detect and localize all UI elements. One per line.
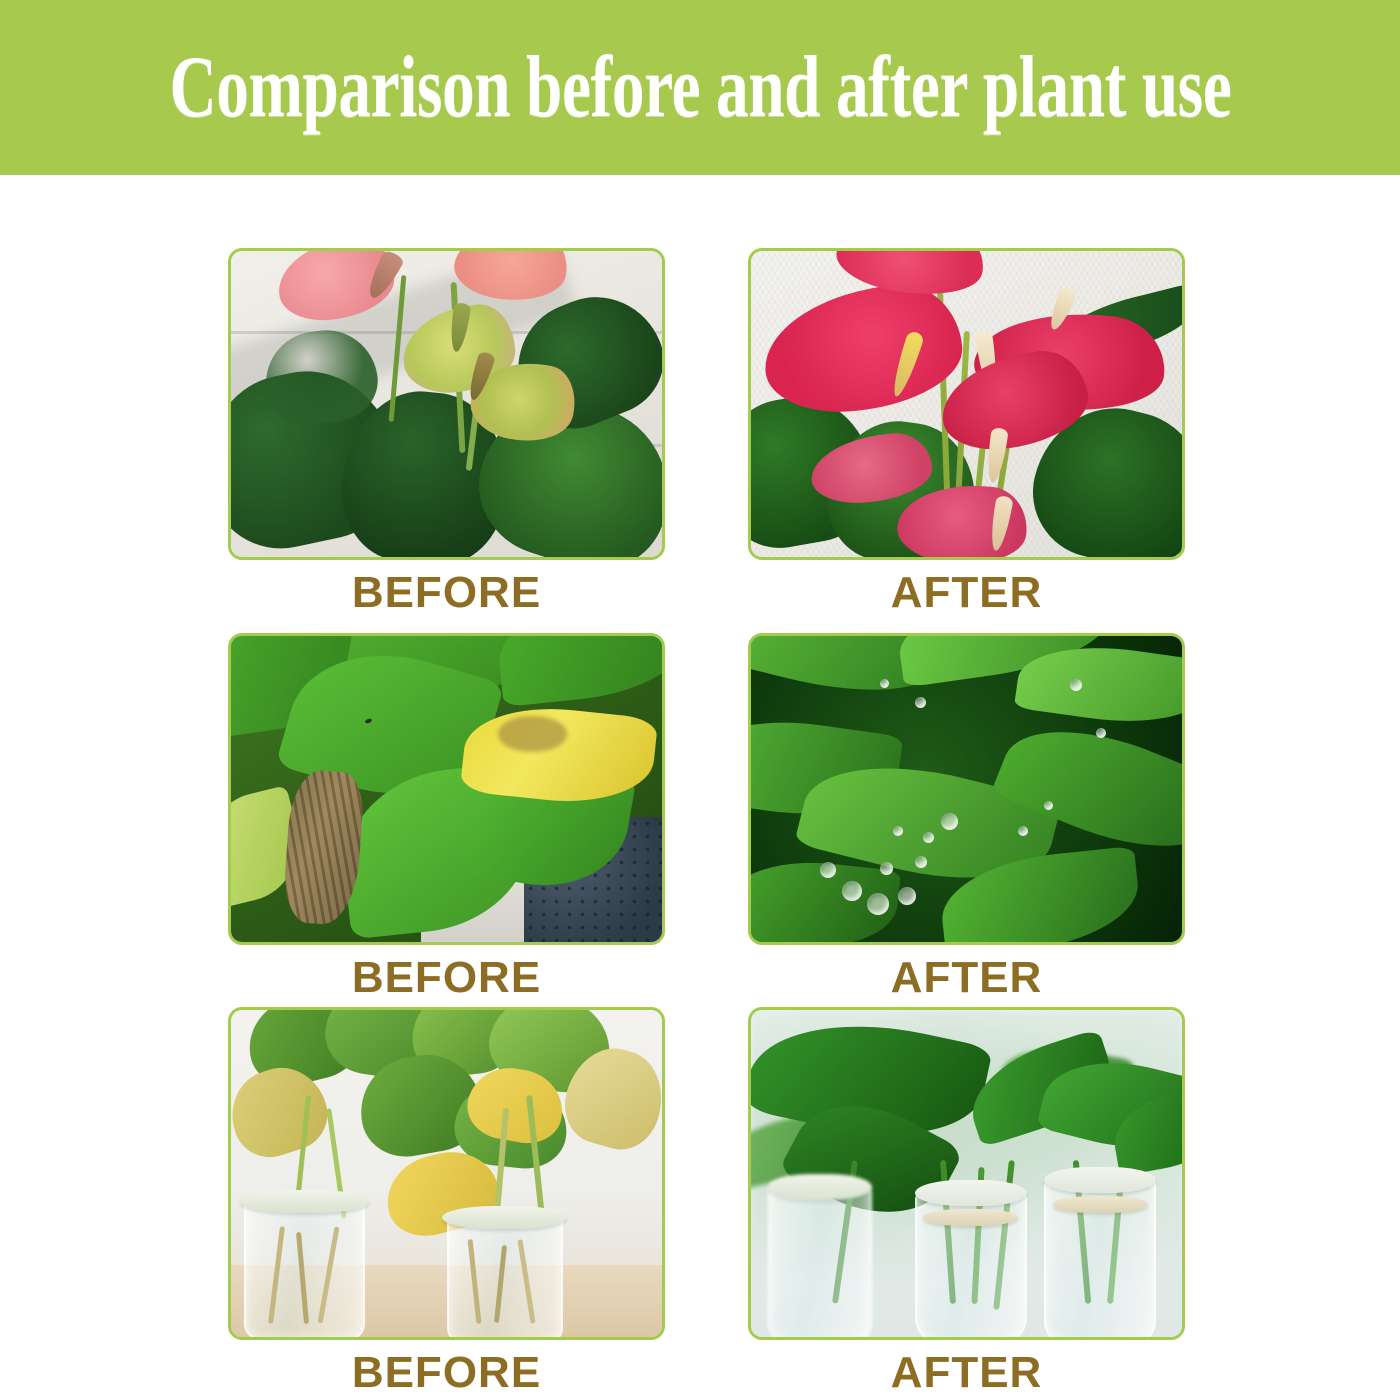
comparison-cell-before-1: BEFORE [228, 248, 665, 616]
comparison-row-2: BEFORE [228, 633, 1185, 1007]
header-banner: Comparison before and after plant use [0, 0, 1400, 175]
caption-before-2: BEFORE [228, 955, 665, 1001]
comparison-infographic: Comparison before and after plant use [0, 0, 1400, 1400]
photo-anthurium-before [231, 251, 662, 557]
photo-frame-after-3 [748, 1007, 1185, 1340]
caption-after-1: AFTER [748, 570, 1185, 616]
caption-after-2: AFTER [748, 955, 1185, 1001]
photo-frame-before-2 [228, 633, 665, 945]
caption-before-1: BEFORE [228, 570, 665, 616]
comparison-cell-before-3: BEFORE [228, 1007, 665, 1396]
photo-frame-before-3 [228, 1007, 665, 1340]
photo-frame-after-2 [748, 633, 1185, 945]
photo-frame-after-1 [748, 248, 1185, 560]
photo-jars-after [751, 1010, 1182, 1337]
comparison-cell-after-3: AFTER [748, 1007, 1185, 1396]
comparison-row-1: BEFORE [228, 248, 1185, 623]
comparison-row-3: BEFORE [228, 1007, 1185, 1398]
photo-anthurium-after [751, 251, 1182, 557]
photo-frame-before-1 [228, 248, 665, 560]
comparison-grid: BEFORE [228, 248, 1185, 1398]
comparison-cell-after-2: AFTER [748, 633, 1185, 1001]
photo-wet-leaves-after [751, 636, 1182, 942]
photo-pothos-before [231, 636, 662, 942]
comparison-cell-before-2: BEFORE [228, 633, 665, 1001]
caption-after-3: AFTER [748, 1350, 1185, 1396]
photo-jars-before [231, 1010, 662, 1337]
comparison-cell-after-1: AFTER [748, 248, 1185, 616]
page-title: Comparison before and after plant use [169, 37, 1231, 138]
caption-before-3: BEFORE [228, 1350, 665, 1396]
